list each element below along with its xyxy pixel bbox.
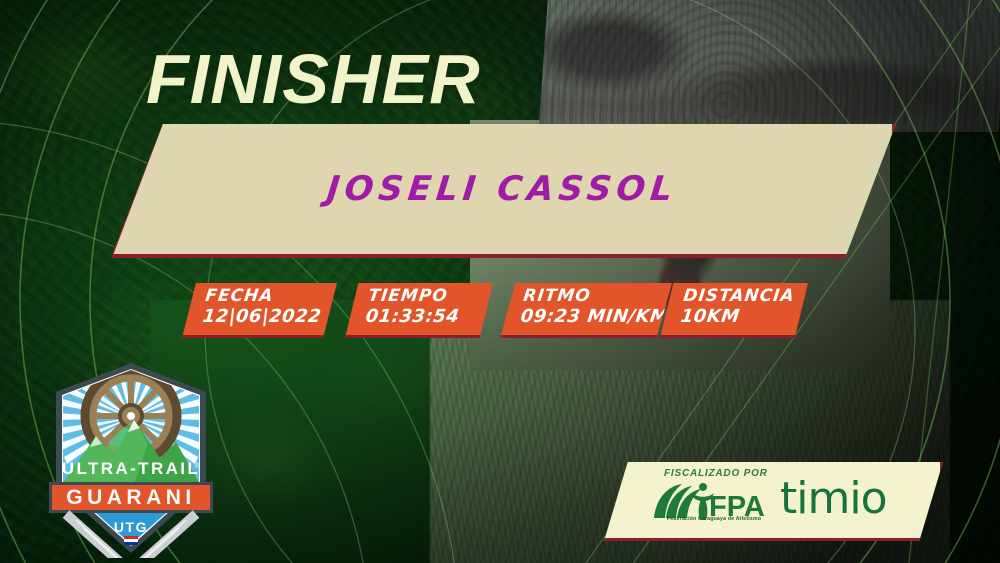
paraguay-flag-mark bbox=[124, 536, 138, 545]
stat-label-distancia: DISTANCIA bbox=[682, 287, 796, 306]
timio-logo: timio bbox=[780, 476, 886, 522]
svg-text:ULTRA-TRAIL: ULTRA-TRAIL bbox=[62, 459, 200, 478]
stat-card-fecha: FECHA 12|06|2022 bbox=[182, 283, 337, 338]
athlete-name: JOSELI CASSOL bbox=[325, 169, 679, 209]
stat-label-fecha: FECHA bbox=[204, 287, 325, 306]
sponsor-heading: FISCALIZADO POR bbox=[664, 468, 768, 479]
fpa-full-name: Federación Paraguaya de Atletismo bbox=[652, 516, 776, 522]
stats-row: FECHA 12|06|2022 TIEMPO 01:33:54 RITMO 0… bbox=[0, 283, 1000, 341]
stat-value-distancia: 10KM bbox=[680, 306, 794, 327]
page-title: FINISHER bbox=[146, 44, 481, 114]
svg-text:UTG: UTG bbox=[114, 519, 148, 535]
fpa-swoosh-icon bbox=[654, 484, 701, 518]
svg-text:®: ® bbox=[195, 462, 201, 470]
finisher-graphic: FINISHER JOSELI CASSOL FECHA 12|06|2022 … bbox=[0, 0, 1000, 563]
stat-value-ritmo: 09:23 MIN/KM bbox=[520, 306, 670, 327]
stat-label-tiempo: TIEMPO bbox=[367, 287, 463, 306]
stat-value-fecha: 12|06|2022 bbox=[202, 306, 323, 327]
sponsor-panel: FISCALIZADO POR FPA Federación Paraguaya… bbox=[604, 462, 943, 541]
guarani-banner: GUARANI bbox=[49, 482, 213, 513]
stat-card-tiempo: TIEMPO 01:33:54 bbox=[345, 283, 493, 338]
name-banner: JOSELI CASSOL bbox=[112, 124, 896, 258]
stat-label-ritmo: RITMO bbox=[522, 287, 672, 306]
utg-abbreviation: UTG bbox=[114, 519, 148, 535]
svg-text:GUARANI: GUARANI bbox=[66, 486, 196, 509]
stat-card-ritmo: RITMO 09:23 MIN/KM bbox=[500, 283, 672, 338]
stat-value-tiempo: 01:33:54 bbox=[365, 306, 461, 327]
ultra-trail-guarani-logo: ULTRA-TRAIL ® GUARANI UTG bbox=[36, 358, 226, 558]
ultra-trail-text: ULTRA-TRAIL ® bbox=[62, 459, 201, 478]
stat-card-distancia: DISTANCIA 10KM bbox=[660, 283, 808, 338]
